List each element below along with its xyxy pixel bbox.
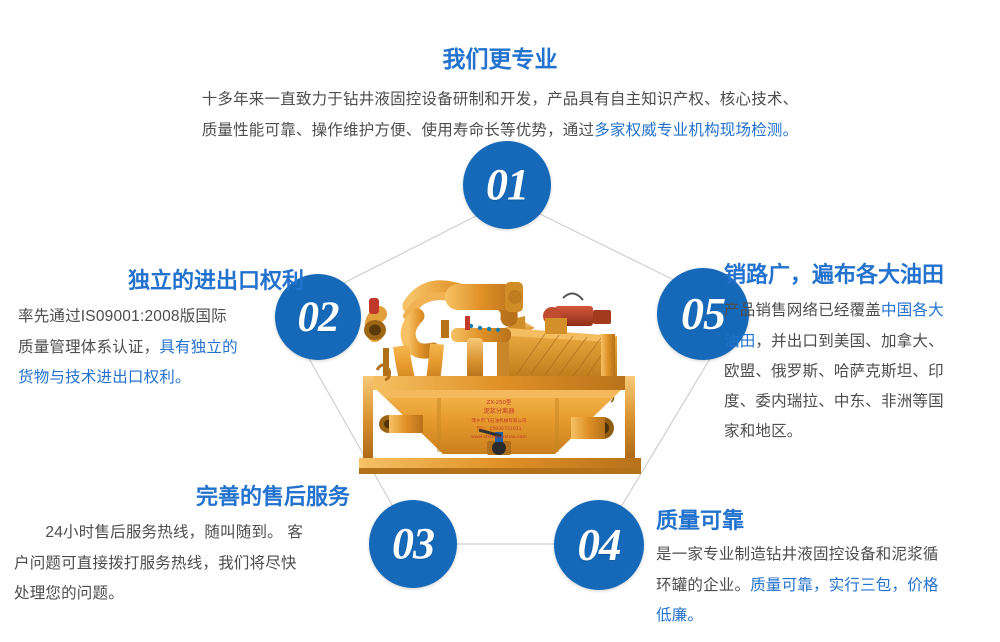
feature-03-heading: 完善的售后服务 <box>14 484 354 510</box>
feature-02-line-2-text: 质量管理体系认证， <box>18 339 159 356</box>
feature-01-line-1: 十多年来一直致力于钻井液固控设备研制和开发，产品具有自主知识产权、核心技术、 <box>150 84 850 116</box>
plate-line-2: 泥浆分离器 <box>484 407 516 415</box>
feature-block-03: 完善的售后服务 24小时售后服务热线，随叫随到。 客 户问题可直接拨打服务热线，… <box>14 484 354 609</box>
feature-05-line-2-highlight: 油田 <box>724 333 755 350</box>
badge-05-label: 05 <box>681 291 725 337</box>
badge-01-label: 01 <box>486 163 528 207</box>
feature-04-line-1: 是一家专业制造钻井液固控设备和泥浆循 <box>656 540 986 570</box>
feature-03-line-3: 处理您的问题。 <box>14 579 354 609</box>
feature-05-line-2: 油田，并出口到美国、加拿大、 <box>724 327 992 357</box>
machine-photo: ZX-250型 泥浆分离器 萍乡市飞石油机械有限公司 TEL：159367310… <box>349 258 649 483</box>
feature-01-line-1-text: 十多年来一直致力于钻井液固控设备研制和开发，产品具有自主知识产权、核心技术、 <box>202 91 799 108</box>
feature-05-line-1-highlight: 中国各大 <box>881 302 944 319</box>
feature-05-line-5: 家和地区。 <box>724 417 992 447</box>
feature-01-heading: 我们更专业 <box>150 46 850 74</box>
feature-05-line-5-text: 家和地区。 <box>724 423 803 440</box>
feature-04-line-1-text: 是一家专业制造钻井液固控设备和泥浆循 <box>656 546 939 563</box>
feature-03-line-1-text: 24小时售后服务热线，随叫随到。 客 <box>14 524 303 541</box>
feature-05-line-3-text: 欧盟、俄罗斯、哈萨克斯坦、印 <box>724 363 944 380</box>
feature-02-line-2: 质量管理体系认证，具有独立的 <box>18 333 310 363</box>
feature-02-line-1-text: 率先通过IS09001:2008版国际 <box>18 308 227 325</box>
feature-block-04: 质量可靠 是一家专业制造钻井液固控设备和泥浆循 环罐的企业。质量可靠，实行三包，… <box>656 508 986 631</box>
feature-05-line-4: 度、委内瑞拉、中东、非洲等国 <box>724 387 992 417</box>
badge-04-label: 04 <box>578 523 621 568</box>
feature-01-line-2-text: 质量性能可靠、操作维护方便、使用寿命长等优势，通过 <box>202 122 595 139</box>
feature-01-body: 十多年来一直致力于钻井液固控设备研制和开发，产品具有自主知识产权、核心技术、 质… <box>150 84 850 148</box>
feature-02-line-2-highlight: 具有独立的 <box>159 339 238 356</box>
feature-02-line-3: 货物与技术进出口权利。 <box>18 363 310 393</box>
feature-02-line-3-highlight: 货物与技术进出口权利。 <box>18 369 191 386</box>
feature-04-line-2-highlight: 质量可靠，实行三包，价格 <box>750 577 938 594</box>
feature-05-line-1-text: 产品销售网络已经覆盖 <box>724 302 881 319</box>
plate-line-1: ZX-250型 <box>487 398 512 406</box>
feature-05-line-3: 欧盟、俄罗斯、哈萨克斯坦、印 <box>724 357 992 387</box>
feature-03-line-3-text: 处理您的问题。 <box>14 585 124 602</box>
feature-04-line-3: 低廉。 <box>656 601 986 631</box>
feature-05-heading: 销路广，遍布各大油田 <box>724 262 992 288</box>
feature-04-line-3-highlight: 低廉。 <box>656 607 703 624</box>
badge-01[interactable]: 01 <box>463 141 551 229</box>
feature-04-line-2-text: 环罐的企业。 <box>656 577 750 594</box>
feature-03-line-2-text: 户问题可直接拨打服务热线，我们将尽快 <box>14 555 297 572</box>
feature-05-line-4-text: 度、委内瑞拉、中东、非洲等国 <box>724 393 944 410</box>
feature-block-01: 我们更专业 十多年来一直致力于钻井液固控设备研制和开发，产品具有自主知识产权、核… <box>150 46 850 147</box>
badge-03[interactable]: 03 <box>369 500 457 588</box>
badge-03-label: 03 <box>392 522 434 566</box>
feature-01-line-2: 质量性能可靠、操作维护方便、使用寿命长等优势，通过多家权威专业机构现场检测。 <box>150 115 850 147</box>
feature-02-body: 率先通过IS09001:2008版国际 质量管理体系认证，具有独立的 货物与技术… <box>18 302 310 393</box>
feature-03-line-1: 24小时售后服务热线，随叫随到。 客 <box>14 518 354 548</box>
feature-05-line-1: 产品销售网络已经覆盖中国各大 <box>724 296 992 326</box>
plate-line-3: 萍乡市飞石油机械有限公司 <box>471 417 527 424</box>
feature-03-body: 24小时售后服务热线，随叫随到。 客 户问题可直接拨打服务热线，我们将尽快 处理… <box>14 518 354 609</box>
feature-04-line-2: 环罐的企业。质量可靠，实行三包，价格 <box>656 571 986 601</box>
feature-05-line-2-text: ，并出口到美国、加拿大、 <box>755 333 943 350</box>
plate-line-4: TEL：15936731031 <box>475 426 521 432</box>
feature-03-line-2: 户问题可直接拨打服务热线，我们将尽快 <box>14 549 354 579</box>
feature-block-05: 销路广，遍布各大油田 产品销售网络已经覆盖中国各大 油田，并出口到美国、加拿大、… <box>724 262 992 447</box>
feature-05-body: 产品销售网络已经覆盖中国各大 油田，并出口到美国、加拿大、 欧盟、俄罗斯、哈萨克… <box>724 296 992 447</box>
feature-01-line-2-highlight: 多家权威专业机构现场检测。 <box>594 122 798 139</box>
feature-block-02: 独立的进出口权利 率先通过IS09001:2008版国际 质量管理体系认证，具有… <box>18 268 310 393</box>
feature-02-heading: 独立的进出口权利 <box>18 268 310 294</box>
feature-04-heading: 质量可靠 <box>656 508 986 534</box>
infographic-canvas: ZX-250型 泥浆分离器 萍乡市飞石油机械有限公司 TEL：159367310… <box>0 0 1000 642</box>
badge-04[interactable]: 04 <box>554 500 644 590</box>
plate-line-5: www.shenglenkhao.com <box>471 434 527 440</box>
feature-02-line-1: 率先通过IS09001:2008版国际 <box>18 302 310 332</box>
vibrator-motor <box>543 293 611 334</box>
feature-04-body: 是一家专业制造钻井液固控设备和泥浆循 环罐的企业。质量可靠，实行三包，价格 低廉… <box>656 540 986 631</box>
